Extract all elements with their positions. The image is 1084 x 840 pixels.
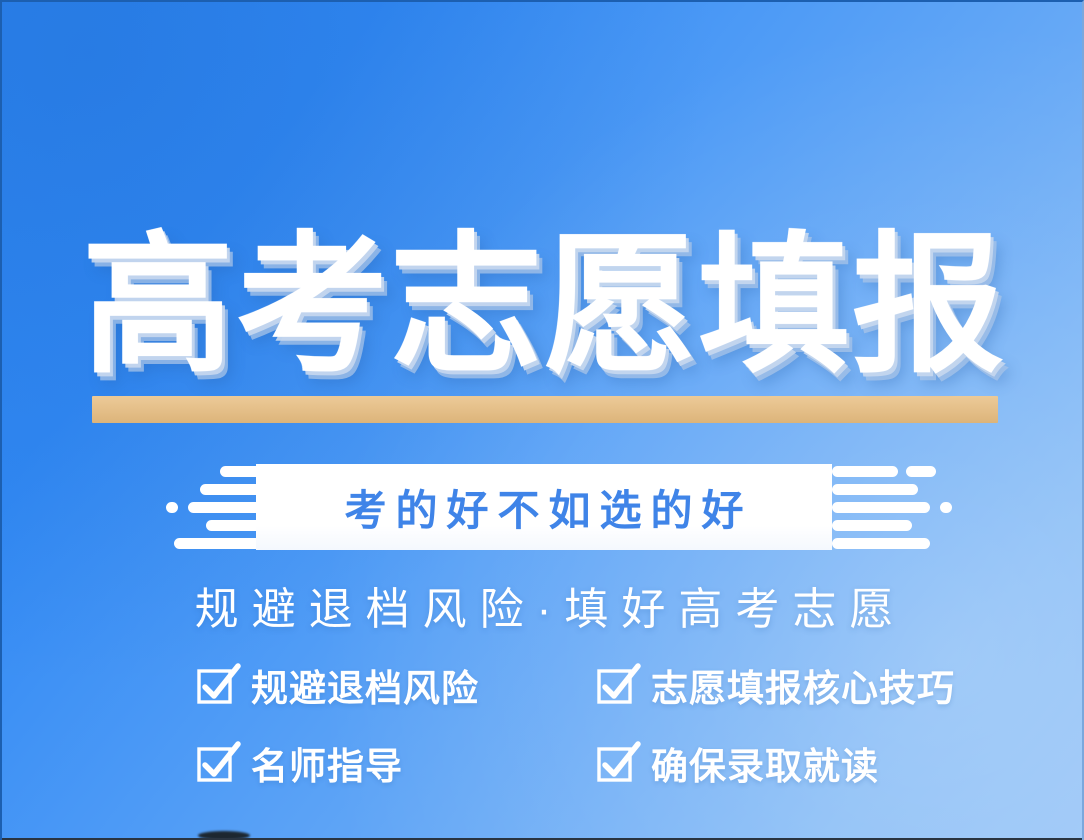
checkbox-checked-icon bbox=[195, 742, 237, 784]
tagline-text: 规避退档风险·填好高考志愿 bbox=[2, 578, 1084, 642]
subtitle-text: 考的好不如选的好 bbox=[335, 477, 752, 538]
list-item: 名师指导 bbox=[195, 735, 555, 791]
list-item-label: 确保录取就读 bbox=[651, 736, 879, 790]
title-block: 高考志愿填报 bbox=[2, 208, 1084, 428]
list-item: 确保录取就读 bbox=[595, 735, 955, 791]
checkbox-checked-icon bbox=[595, 742, 637, 784]
feature-checklist: 规避退档风险 志愿填报核心技巧 名师指导 bbox=[195, 657, 955, 791]
page-title: 高考志愿填报 bbox=[2, 208, 1084, 404]
list-item-label: 名师指导 bbox=[251, 736, 403, 790]
checkbox-checked-icon bbox=[595, 664, 637, 706]
speed-lines-right-icon bbox=[832, 460, 952, 554]
list-item-label: 规避退档风险 bbox=[251, 658, 479, 712]
checkbox-checked-icon bbox=[195, 664, 237, 706]
list-item: 志愿填报核心技巧 bbox=[595, 657, 955, 713]
poster-canvas: 高考志愿填报 考的好不如选的好 规避退档风险·填好高考志愿 bbox=[0, 0, 1084, 840]
list-item: 规避退档风险 bbox=[195, 657, 555, 713]
subtitle-banner: 考的好不如选的好 bbox=[256, 464, 832, 550]
subtitle-banner-row: 考的好不如选的好 bbox=[2, 460, 1084, 554]
list-item-label: 志愿填报核心技巧 bbox=[651, 658, 955, 712]
